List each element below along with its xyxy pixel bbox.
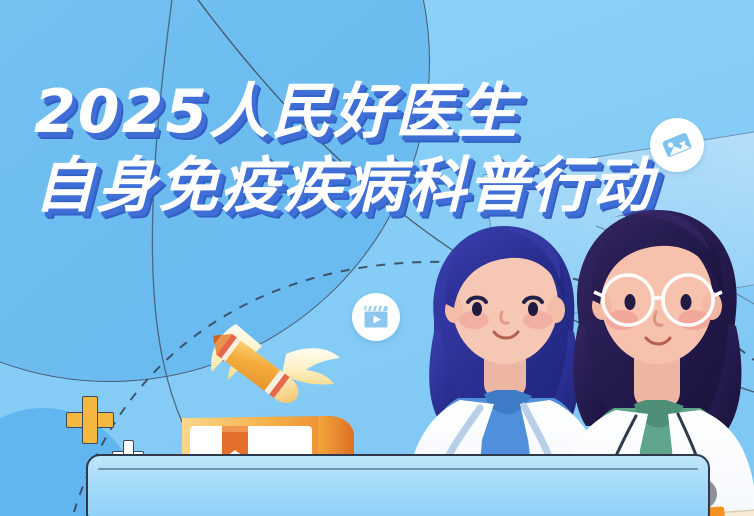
title-line-1: 2025人民好医生: [34, 82, 654, 142]
image-icon: [660, 128, 694, 162]
desk-panel: [86, 454, 710, 516]
poster-banner: 2025人民好医生 自身免疫疾病科普行动: [0, 0, 754, 516]
video-badge[interactable]: [352, 293, 400, 341]
title-line-2: 自身免疫疾病科普行动: [34, 156, 654, 216]
clapperboard-icon: [361, 302, 391, 332]
poster-title: 2025人民好医生 自身免疫疾病科普行动: [34, 82, 654, 216]
orange-plus-icon: [66, 396, 114, 444]
plus-bar-vertical: [82, 396, 98, 444]
image-badge[interactable]: [650, 118, 704, 172]
